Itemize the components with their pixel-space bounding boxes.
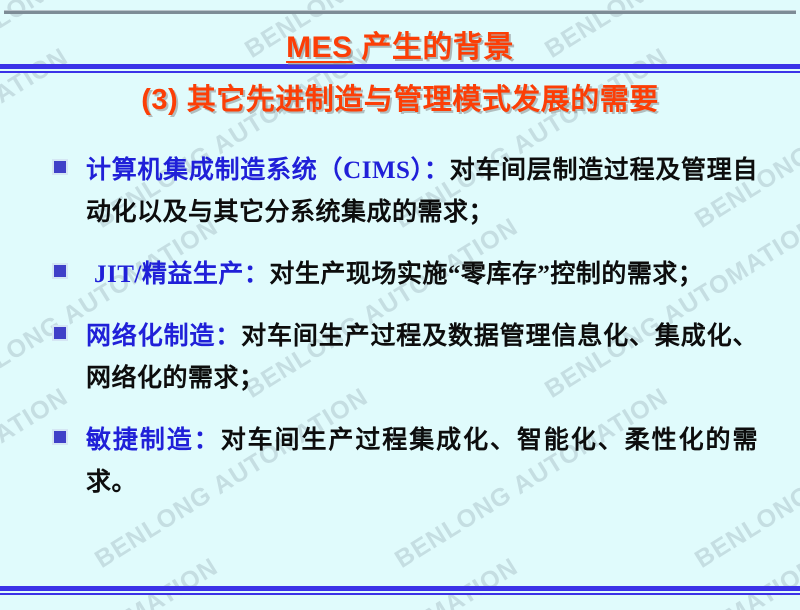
list-item: 敏捷制造：对车间生产过程集成化、智能化、柔性化的需求。 bbox=[48, 420, 758, 504]
square-bullet-icon bbox=[54, 327, 66, 339]
divider-thin-line bbox=[0, 71, 800, 73]
list-item-text: JIT/精益生产：对生产现场实施“零库存”控制的需求； bbox=[86, 254, 758, 296]
list-item-text: 计算机集成制造系统（CIMS）：对车间层制造过程及管理自动化以及与其它分系统集成… bbox=[86, 150, 758, 234]
list-item: JIT/精益生产：对生产现场实施“零库存”控制的需求； bbox=[48, 254, 758, 296]
watermark-text: BENLONG AUTOMATION bbox=[0, 552, 223, 610]
square-bullet-icon bbox=[54, 161, 66, 173]
watermark-text: BENLONG AUTOMATION bbox=[240, 552, 523, 610]
list-item-text: 敏捷制造：对车间生产过程集成化、智能化、柔性化的需求。 bbox=[86, 420, 758, 504]
page-subtitle: (3) 其它先进制造与管理模式发展的需要 bbox=[0, 76, 800, 118]
list-item: 计算机集成制造系统（CIMS）：对车间层制造过程及管理自动化以及与其它分系统集成… bbox=[48, 150, 758, 234]
square-bullet-icon bbox=[54, 431, 66, 443]
list-item-lead: JIT/精益生产： bbox=[86, 261, 269, 288]
list-item-body: 对生产现场实施“零库存”控制的需求； bbox=[269, 261, 703, 288]
page-title: MES 产生的背景 bbox=[0, 22, 800, 66]
square-bullet-icon bbox=[54, 265, 66, 277]
watermark-text: BENLONG AUTOMATION bbox=[540, 552, 800, 610]
list-item-lead: 计算机集成制造系统（CIMS）： bbox=[86, 157, 450, 184]
divider-thin-line bbox=[0, 593, 800, 595]
list-item: 网络化制造：对车间生产过程及数据管理信息化、集成化、网络化的需求； bbox=[48, 316, 758, 400]
presentation-slide: BENLONG AUTOMATIONBENLONG AUTOMATIONBENL… bbox=[0, 0, 800, 610]
bullet-list: 计算机集成制造系统（CIMS）：对车间层制造过程及管理自动化以及与其它分系统集成… bbox=[48, 150, 758, 524]
page-title-rest: 产生的背景 bbox=[353, 31, 514, 64]
page-title-emphasis: MES bbox=[286, 31, 353, 64]
bottom-divider-rule bbox=[0, 586, 800, 595]
list-item-lead: 网络化制造： bbox=[86, 323, 241, 350]
list-item-text: 网络化制造：对车间生产过程及数据管理信息化、集成化、网络化的需求； bbox=[86, 316, 758, 400]
list-item-lead: 敏捷制造： bbox=[86, 427, 221, 454]
top-divider-rule bbox=[4, 10, 796, 14]
